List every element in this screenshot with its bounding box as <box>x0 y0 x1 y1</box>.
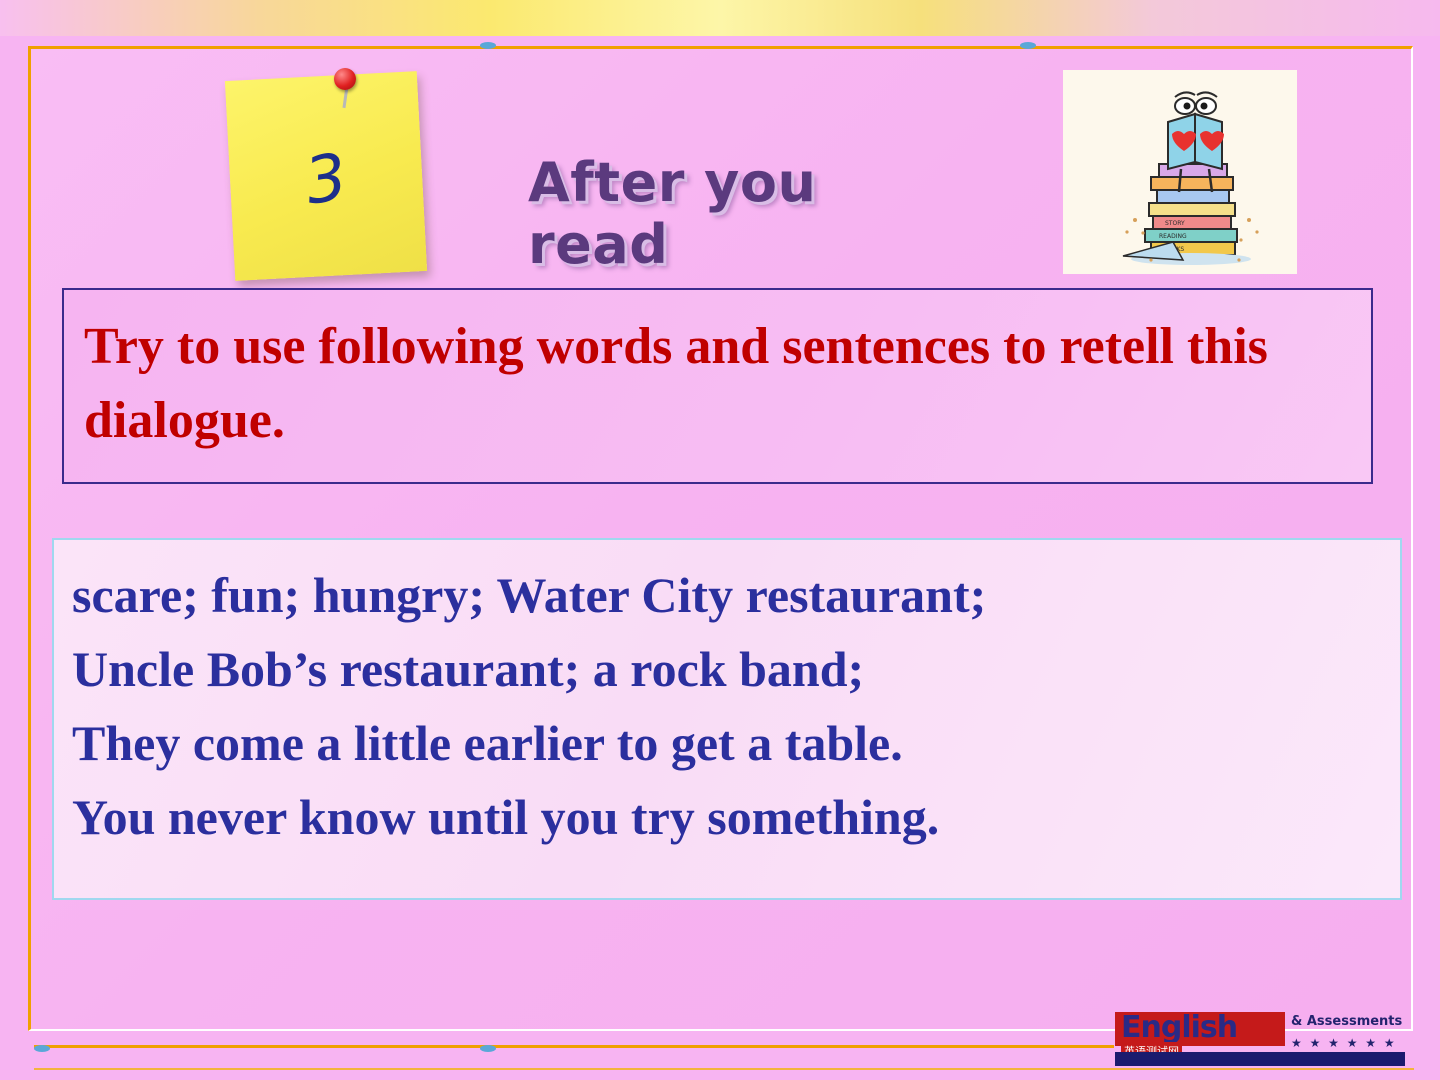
bottom-divider-secondary <box>34 1068 1414 1070</box>
top-gradient-strip <box>0 0 1440 36</box>
page-title: After you read <box>528 152 948 276</box>
logo-right-text: & Assessments <box>1291 1014 1402 1029</box>
svg-text:STORY: STORY <box>1165 220 1185 227</box>
push-pin-icon <box>334 68 356 90</box>
decorative-dot <box>34 1045 50 1052</box>
sticky-note: 3 <box>225 71 427 281</box>
sticky-note-number: 3 <box>300 140 352 219</box>
svg-text:READING: READING <box>1159 233 1187 240</box>
reading-illustration: BOOKS READING STORY <box>1063 70 1297 274</box>
word-list-text: scare; fun; hungry; Water City restauran… <box>72 558 1392 854</box>
decorative-dot <box>480 1045 496 1052</box>
word-list-box: scare; fun; hungry; Water City restauran… <box>52 538 1402 900</box>
instruction-text: Try to use following words and sentences… <box>84 310 1364 458</box>
bottom-divider <box>34 1045 1114 1048</box>
site-logo: English 英语测试网 & Assessments ★ ★ ★ ★ ★ ★ … <box>1115 1012 1405 1068</box>
book-stack-icon: BOOKS READING STORY <box>1063 70 1297 274</box>
logo-bottom-bar <box>1115 1052 1405 1066</box>
slide-root: 3 After you read BOOKS READING STORY <box>0 0 1440 1080</box>
instruction-box: Try to use following words and sentences… <box>62 288 1373 484</box>
logo-word: English <box>1121 1012 1237 1045</box>
decorative-dot <box>1020 42 1036 49</box>
decorative-dot <box>480 42 496 49</box>
